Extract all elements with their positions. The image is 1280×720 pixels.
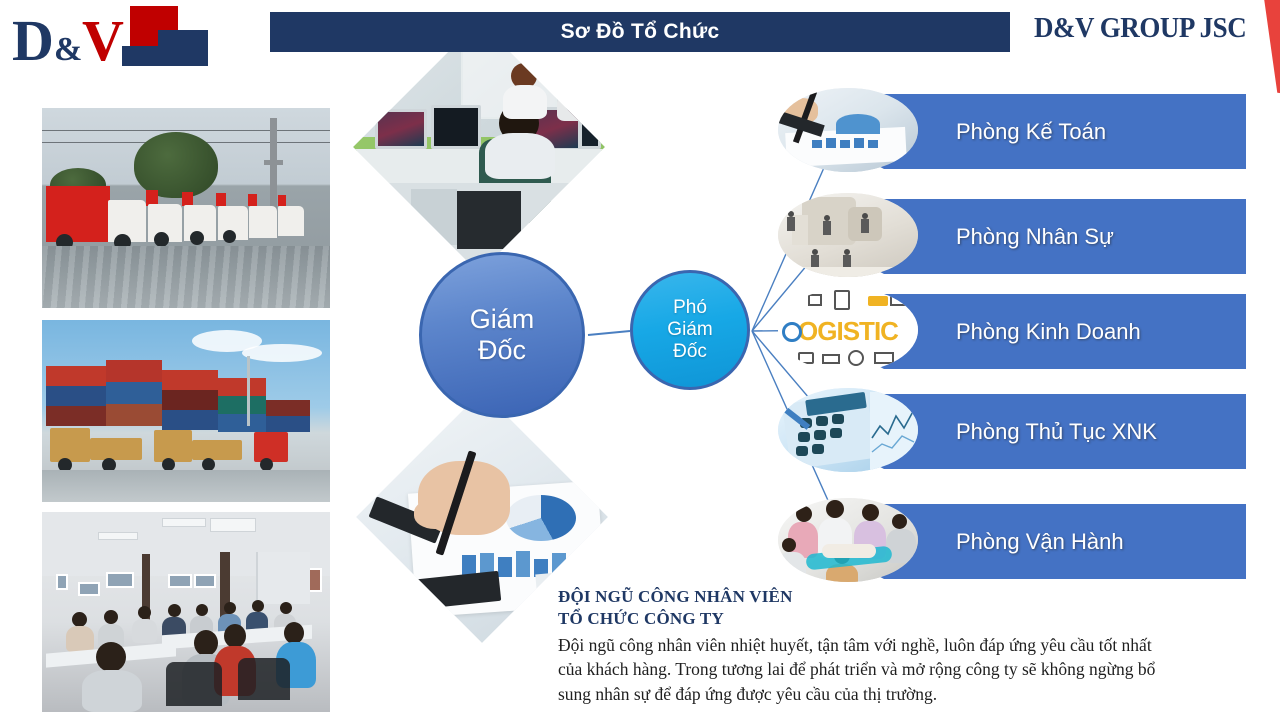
logistics-wordmark: OGISTIC — [798, 316, 898, 347]
logistics-photo-icon: OGISTIC — [778, 288, 918, 372]
slide-title-bar: Sơ Đồ Tổ Chức — [270, 12, 1010, 52]
team-description-block: ĐỘI NGŨ CÔNG NHÂN VIÊN TỔ CHỨC CÔNG TY Đ… — [558, 586, 1178, 707]
director-label-line2: Đốc — [470, 335, 535, 366]
node-director[interactable]: Giám Đốc — [419, 252, 585, 418]
svg-text:&: & — [54, 31, 82, 68]
deputy-label-line1: Phó — [667, 297, 712, 319]
operations-photo-icon — [778, 498, 918, 582]
deputy-label-line2: Giám — [667, 319, 712, 341]
accounting-photo-icon — [778, 88, 918, 172]
slide-canvas: D & V Sơ Đồ Tổ Chức D&V GROUP JSC — [0, 0, 1280, 720]
node-deputy-director[interactable]: Phó Giám Đốc — [630, 270, 750, 390]
blurb-heading-line1: ĐỘI NGŨ CÔNG NHÂN VIÊN — [558, 586, 1178, 608]
svg-text:D: D — [12, 8, 54, 70]
company-logo[interactable]: D & V — [10, 4, 220, 70]
brand-name: D&V GROUP JSC — [1034, 12, 1246, 45]
blurb-body: Đội ngũ công nhân viên nhiệt huyết, tận … — [558, 633, 1178, 708]
logo-svg: D & V — [10, 4, 220, 70]
customs-photo-icon — [778, 388, 918, 472]
svg-text:V: V — [82, 8, 124, 70]
director-label-line1: Giám — [470, 304, 535, 335]
page-title: Sơ Đồ Tổ Chức — [561, 20, 720, 44]
deputy-label-line3: Đốc — [667, 341, 712, 363]
human-resources-photo-icon — [778, 193, 918, 277]
blurb-heading-line2: TỔ CHỨC CÔNG TY — [558, 608, 1178, 630]
